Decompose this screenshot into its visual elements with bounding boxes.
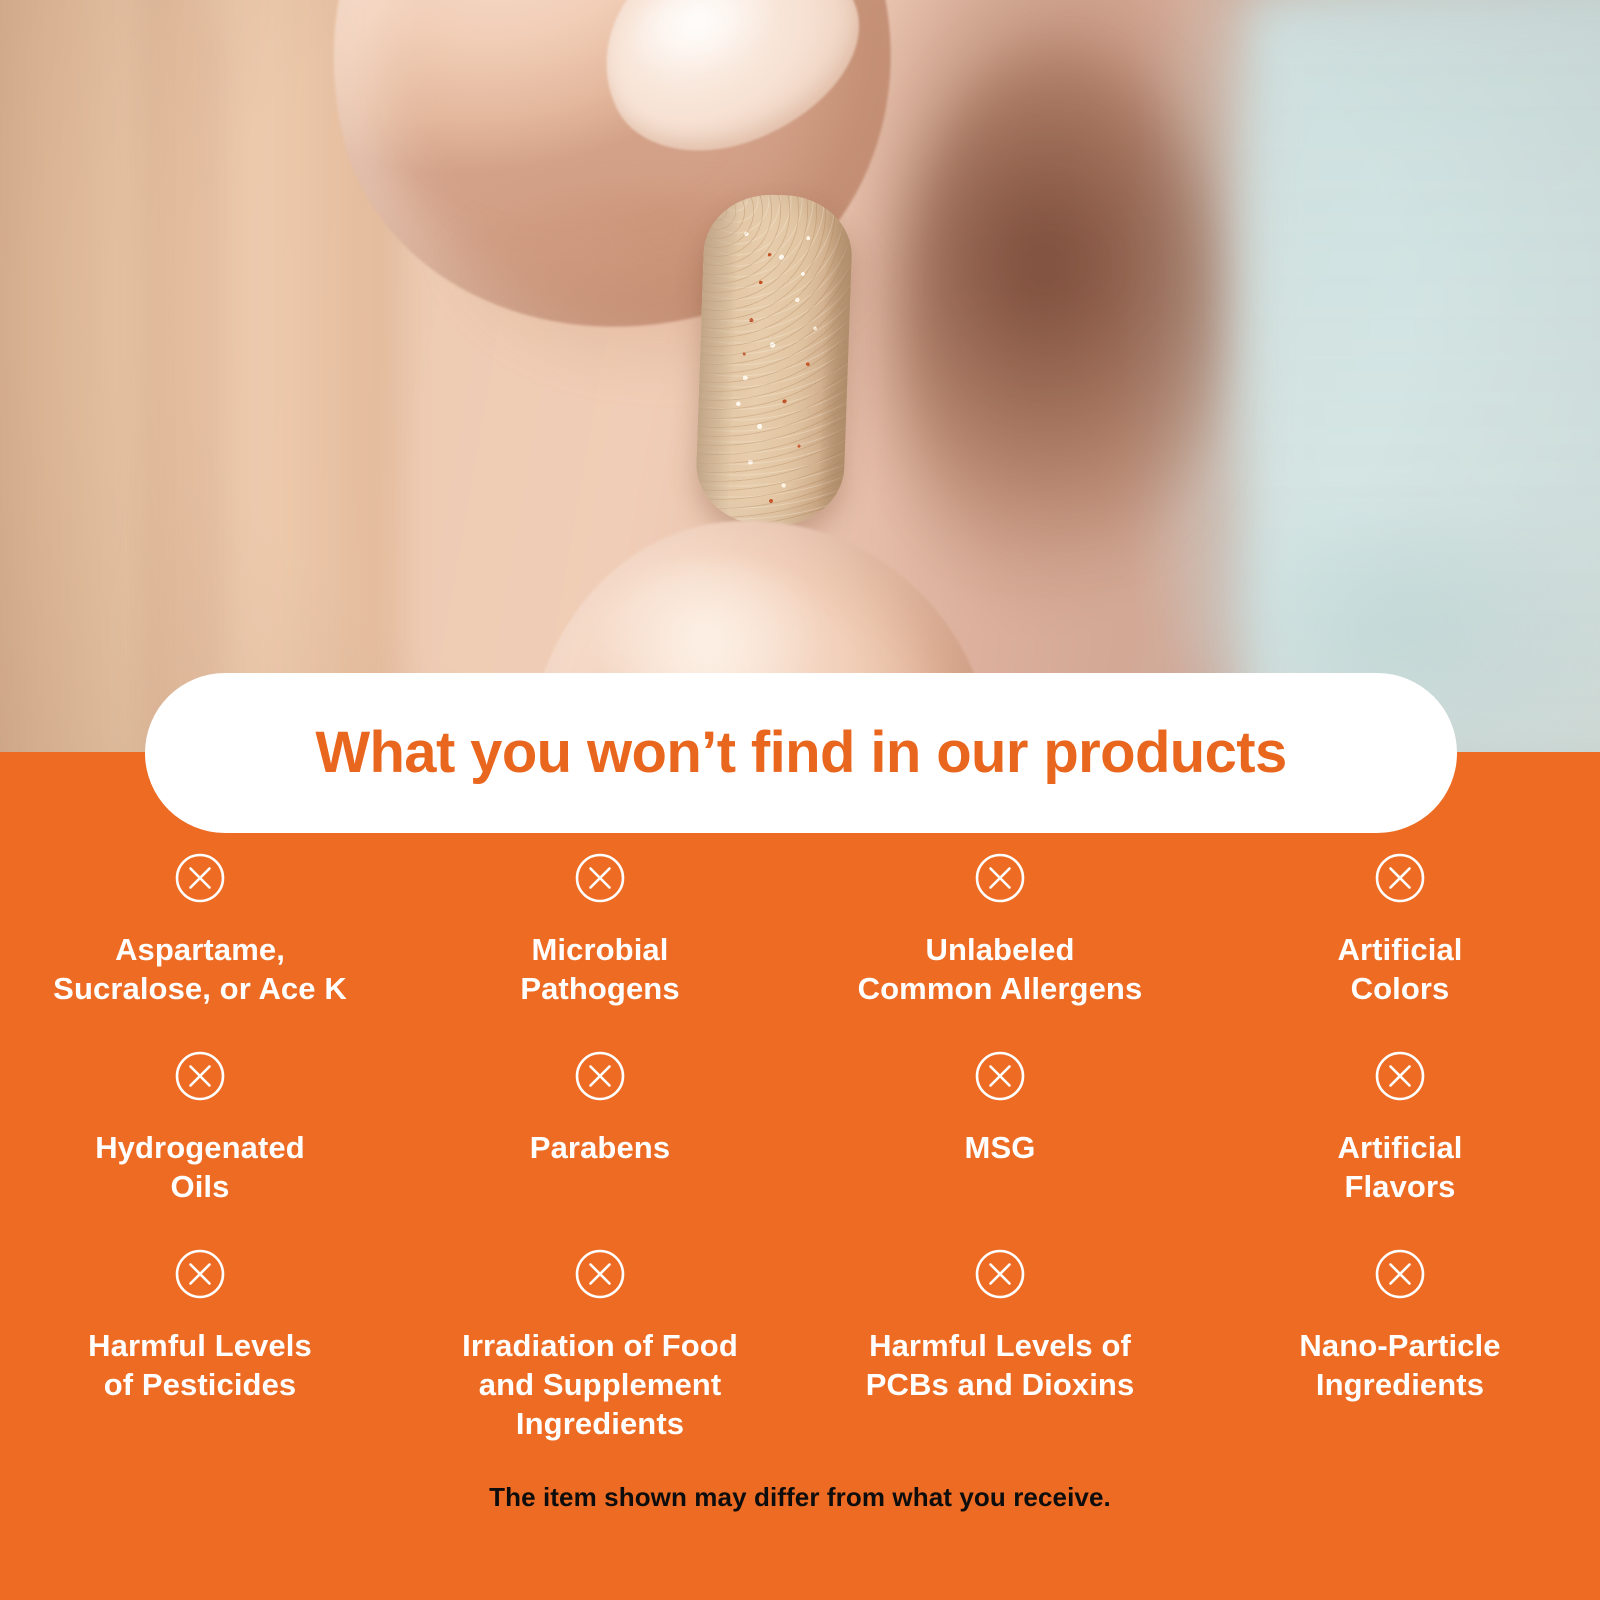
exclusion-item: Unlabeled Common Allergens xyxy=(800,852,1200,1008)
disclaimer-text: The item shown may differ from what you … xyxy=(0,1482,1600,1513)
supplement-tablet xyxy=(694,193,853,528)
exclusion-item: Harmful Levels of PCBs and Dioxins xyxy=(800,1248,1200,1443)
circle-x-icon xyxy=(974,1248,1026,1300)
exclusion-label: Unlabeled Common Allergens xyxy=(858,930,1143,1008)
exclusion-label: Artificial Colors xyxy=(1337,930,1462,1008)
exclusion-item: Artificial Flavors xyxy=(1200,1050,1600,1206)
exclusion-label: Microbial Pathogens xyxy=(520,930,679,1008)
exclusion-label: Irradiation of Food and Supplement Ingre… xyxy=(462,1326,738,1443)
exclusion-label: Harmful Levels of Pesticides xyxy=(88,1326,312,1404)
exclusion-item: Nano-Particle Ingredients xyxy=(1200,1248,1600,1443)
circle-x-icon xyxy=(174,852,226,904)
circle-x-icon xyxy=(974,1050,1026,1102)
circle-x-icon xyxy=(574,852,626,904)
exclusion-label: Artificial Flavors xyxy=(1337,1128,1462,1206)
circle-x-icon xyxy=(574,1050,626,1102)
circle-x-icon xyxy=(974,852,1026,904)
circle-x-icon xyxy=(574,1248,626,1300)
circle-x-icon xyxy=(1374,1248,1426,1300)
exclusion-item: Harmful Levels of Pesticides xyxy=(0,1248,400,1443)
exclusion-item: MSG xyxy=(800,1050,1200,1206)
exclusion-label: MSG xyxy=(965,1128,1036,1167)
headline-emphasis: won’t xyxy=(587,720,735,785)
circle-x-icon xyxy=(174,1248,226,1300)
circle-x-icon xyxy=(174,1050,226,1102)
exclusion-label: Parabens xyxy=(530,1128,670,1167)
headline-part-2: find in our products xyxy=(735,720,1286,785)
exclusion-label: Hydrogenated Oils xyxy=(95,1128,305,1206)
exclusion-item: Parabens xyxy=(400,1050,800,1206)
exclusion-label: Harmful Levels of PCBs and Dioxins xyxy=(866,1326,1135,1404)
exclusion-item: Artificial Colors xyxy=(1200,852,1600,1008)
exclusion-label: Aspartame, Sucralose, or Ace K xyxy=(53,930,347,1008)
headline-part-1: What you xyxy=(315,720,587,785)
circle-x-icon xyxy=(1374,1050,1426,1102)
exclusion-item: Hydrogenated Oils xyxy=(0,1050,400,1206)
background-warm-blur xyxy=(900,40,1220,600)
page-title: What you won’t find in our products xyxy=(315,724,1286,782)
exclusions-grid: Aspartame, Sucralose, or Ace KMicrobial … xyxy=(0,852,1600,1443)
exclusion-item: Aspartame, Sucralose, or Ace K xyxy=(0,852,400,1008)
infographic-page: What you won’t find in our products Aspa… xyxy=(0,0,1600,1600)
product-photo xyxy=(0,0,1600,752)
headline-pill: What you won’t find in our products xyxy=(145,673,1457,833)
exclusion-item: Microbial Pathogens xyxy=(400,852,800,1008)
exclusion-label: Nano-Particle Ingredients xyxy=(1299,1326,1500,1404)
exclusion-item: Irradiation of Food and Supplement Ingre… xyxy=(400,1248,800,1443)
circle-x-icon xyxy=(1374,852,1426,904)
